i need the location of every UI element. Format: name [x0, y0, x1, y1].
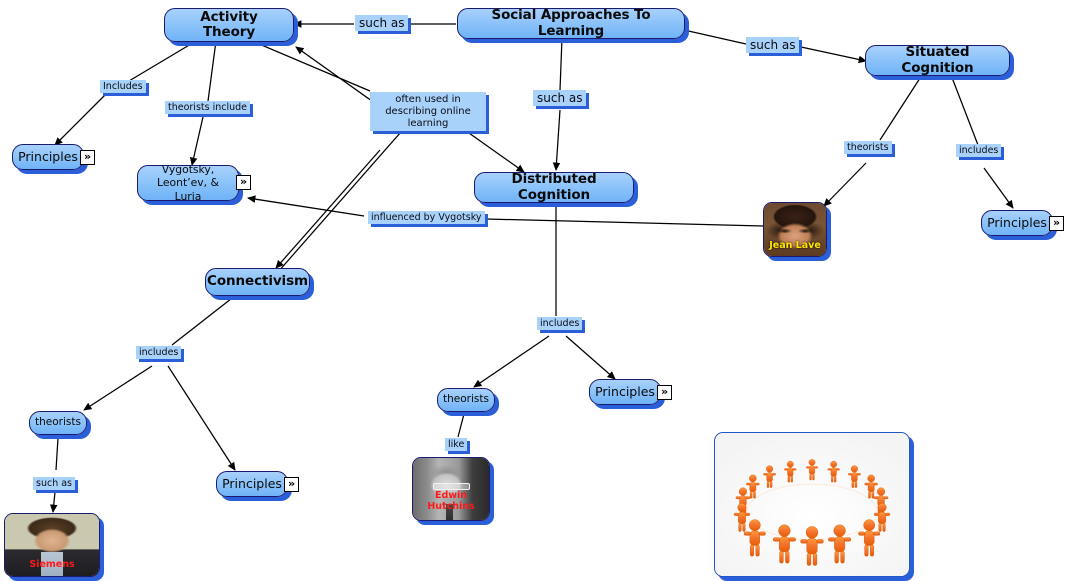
node-label: Social Approaches To Learning	[465, 8, 677, 38]
node-siemens-photo[interactable]: Siemens	[4, 513, 100, 577]
node-label: Vygotsky, Leont’ev, & Luria	[145, 163, 231, 203]
eyes-detail	[775, 228, 815, 234]
link-label-such-as-activity-theory[interactable]: such as	[355, 15, 408, 31]
node-principles-situated-cognition[interactable]: Principles	[981, 210, 1053, 236]
node-edwin-hutchins-photo[interactable]: Edwin Hutchins	[412, 457, 490, 521]
node-label: Principles	[987, 216, 1047, 230]
link-label-includes-distributed-cognition[interactable]: includes	[537, 317, 582, 330]
link-label-theorists-include-activity-theory[interactable]: theorists include	[165, 101, 250, 114]
node-social-approaches-to-learning[interactable]: Social Approaches To Learning	[457, 8, 685, 39]
link-label-includes-activity-theory[interactable]: Includes	[100, 80, 146, 93]
node-label: Situated Cognition	[873, 45, 1002, 75]
link-label-includes-situated-cognition[interactable]: includes	[956, 144, 1001, 157]
chevron-more-icon[interactable]: »	[236, 175, 251, 190]
node-label: theorists	[443, 394, 489, 406]
link-label-theorists-situated-cognition[interactable]: theorists	[844, 141, 892, 154]
photo-caption: Jean Lave	[764, 240, 826, 251]
photo-caption: Siemens	[5, 559, 99, 570]
node-vygotsky-leontev-luria[interactable]: Vygotsky, Leont’ev, & Luria	[137, 165, 239, 201]
node-distributed-cognition[interactable]: Distributed Cognition	[474, 172, 634, 203]
node-label: Principles	[595, 385, 655, 399]
node-label: Principles	[18, 150, 78, 164]
link-label-includes-connectivism[interactable]: includes	[136, 346, 181, 359]
link-label-often-used-in-describing-online-learning[interactable]: often used in describing online learning	[370, 92, 486, 131]
node-label: Connectivism	[207, 274, 308, 289]
people-holding-hands-icon	[715, 433, 909, 576]
node-label: Distributed Cognition	[482, 172, 626, 202]
chevron-more-icon[interactable]: »	[657, 385, 672, 400]
node-principles-distributed-cognition[interactable]: Principles	[589, 379, 661, 405]
link-label-such-as-distributed-cognition[interactable]: such as	[533, 90, 586, 106]
node-theorists-connectivism[interactable]: theorists	[29, 411, 87, 435]
node-people-circle-image[interactable]	[714, 432, 910, 577]
node-principles-connectivism[interactable]: Principles	[216, 471, 288, 497]
link-label-like-hutchins[interactable]: like	[445, 438, 467, 451]
node-principles-activity-theory[interactable]: Principles	[12, 144, 84, 170]
node-activity-theory[interactable]: Activity Theory	[164, 8, 294, 42]
node-theorists-distributed-cognition[interactable]: theorists	[437, 388, 495, 412]
concept-map-canvas: Social Approaches To Learning Activity T…	[0, 0, 1066, 581]
node-situated-cognition[interactable]: Situated Cognition	[865, 45, 1010, 76]
photo-caption: Edwin Hutchins	[413, 490, 489, 512]
node-jean-lave-photo[interactable]: Jean Lave	[763, 202, 827, 257]
node-label: Activity Theory	[172, 10, 286, 40]
link-label-such-as-situated-cognition[interactable]: such as	[746, 37, 799, 53]
link-label-such-as-siemens[interactable]: such as	[33, 477, 75, 490]
chevron-more-icon[interactable]: »	[284, 477, 299, 492]
node-label: Principles	[222, 477, 282, 491]
node-connectivism[interactable]: Connectivism	[205, 268, 310, 296]
node-label: theorists	[35, 417, 81, 429]
chevron-more-icon[interactable]: »	[1049, 216, 1064, 231]
link-label-influenced-by-vygotsky[interactable]: influenced by Vygotsky	[368, 211, 485, 224]
chevron-more-icon[interactable]: »	[80, 150, 95, 165]
